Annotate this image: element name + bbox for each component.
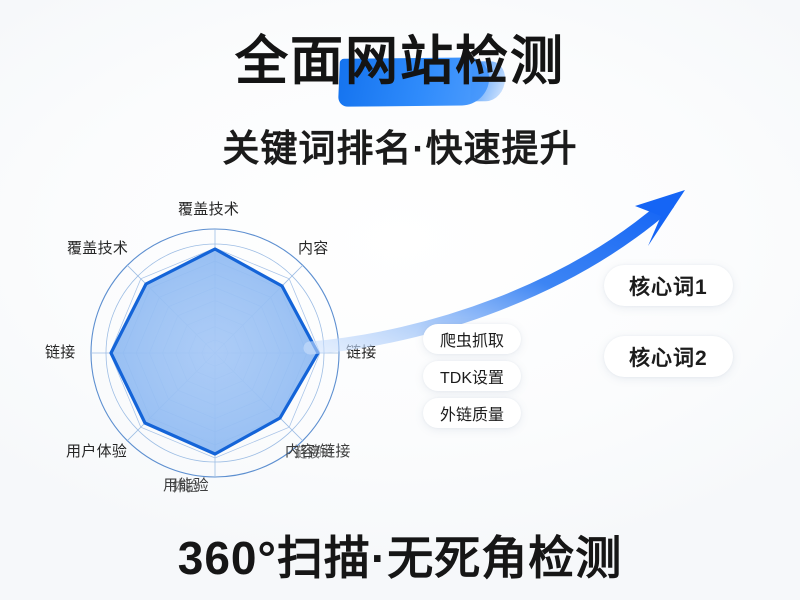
- radar-label-top-left: 覆盖技术: [67, 241, 128, 256]
- headline-block: 全面网站检测: [0, 32, 800, 91]
- feature-pill-backlink[interactable]: 外链质量: [423, 398, 521, 428]
- footer-headline: 360°扫描·无死角检测: [0, 522, 800, 588]
- keyword-pill-1[interactable]: 核心词1: [604, 265, 733, 306]
- keyword-pill-2[interactable]: 核心词2: [604, 336, 733, 377]
- radar-label-top: 覆盖技术: [178, 202, 239, 217]
- radar-label-bottom-left: 用户体验: [66, 444, 127, 459]
- poster-canvas: 全面网站检测 关键词排名·快速提升: [0, 0, 800, 600]
- feature-pill-backlink-label: 外链质量: [440, 401, 504, 425]
- radar-label-bottom-right: 内容/链接 链接 内容: [285, 444, 351, 459]
- radar-label-bottom: 用能验 体验: [163, 478, 209, 493]
- keyword-pill-1-label: 核心词1: [629, 271, 708, 301]
- feature-pill-tdk[interactable]: TDK设置: [423, 361, 521, 391]
- page-title-text: 全面网站检测: [235, 32, 565, 91]
- page-subtitle: 关键词排名·快速提升: [0, 118, 800, 172]
- page-title: 全面网站检测: [235, 32, 565, 91]
- feature-pill-crawl[interactable]: 爬虫抓取: [423, 324, 521, 354]
- radar-label-left: 链接: [45, 345, 76, 360]
- keyword-pill-2-label: 核心词2: [629, 342, 708, 372]
- feature-pill-tdk-label: TDK设置: [440, 364, 504, 388]
- feature-pill-crawl-label: 爬虫抓取: [440, 327, 504, 351]
